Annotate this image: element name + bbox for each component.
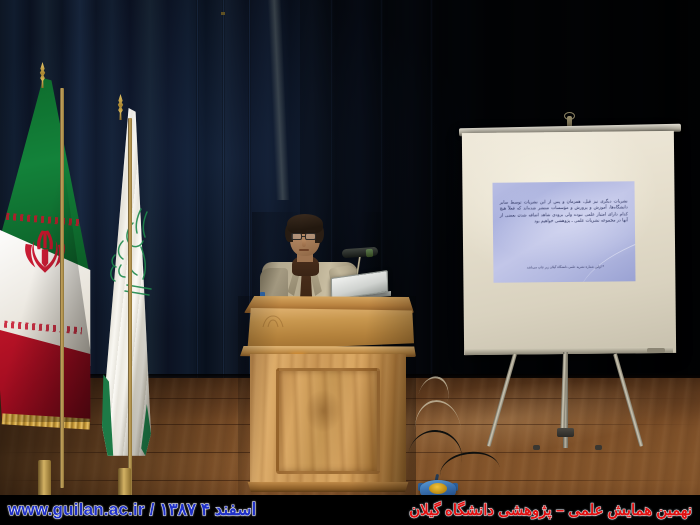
presenter-eyebrow bbox=[291, 230, 301, 232]
podium-panel-grain bbox=[279, 371, 377, 471]
slide-body-text: نشریات دیگری نیز قبل، همزمان و پس از این… bbox=[500, 199, 628, 226]
eyeglasses-icon bbox=[305, 233, 316, 240]
podium-engraved-logo-icon bbox=[260, 314, 286, 330]
wooden-podium bbox=[238, 296, 416, 496]
iranian-flag bbox=[0, 78, 105, 478]
podium-inset-panel bbox=[276, 368, 380, 474]
screen-bottom-weight-bar bbox=[465, 347, 673, 355]
presenter-mouth bbox=[299, 249, 309, 251]
tripod-foot bbox=[595, 445, 602, 450]
eyeglasses-icon bbox=[291, 233, 302, 240]
presenter-nose bbox=[302, 240, 306, 247]
website-and-date-caption: www.guilan.ac.ir / ۱۳۸۷ اسفند ۴ bbox=[8, 500, 256, 520]
curtain-fold bbox=[222, 0, 225, 400]
curtain-fold bbox=[430, 0, 433, 400]
screen-bottom-knob bbox=[647, 348, 665, 353]
microphone-band bbox=[366, 249, 374, 257]
university-flag-pole bbox=[128, 118, 132, 496]
projected-slide: نشریات دیگری نیز قبل، همزمان و پس از این… bbox=[492, 181, 635, 282]
tripod-hub bbox=[557, 428, 574, 437]
iranian-flag-stand-column bbox=[38, 460, 51, 500]
conference-title-caption: نهمین همایش علمی – پژوهشی دانشگاه گیلان bbox=[409, 501, 692, 519]
iranian-flag-pole bbox=[60, 88, 64, 488]
cable-reel-hub bbox=[429, 483, 447, 494]
curtain-speck bbox=[221, 12, 225, 15]
photo-scene: نشریات دیگری نیز قبل، همزمان و پس از این… bbox=[0, 0, 700, 525]
podium-front-body bbox=[250, 354, 406, 486]
eyeglasses-bridge bbox=[302, 236, 305, 237]
presenter-eyebrow bbox=[306, 230, 316, 232]
tripod-foot bbox=[533, 445, 540, 450]
projection-screen-unit: نشریات دیگری نیز قبل، همزمان و پس از این… bbox=[455, 112, 685, 412]
caption-bar: www.guilan.ac.ir / ۱۳۸۷ اسفند ۴ نهمین هم… bbox=[0, 495, 700, 525]
podium-base-plinth bbox=[246, 482, 410, 492]
curtain-fold bbox=[196, 0, 199, 400]
